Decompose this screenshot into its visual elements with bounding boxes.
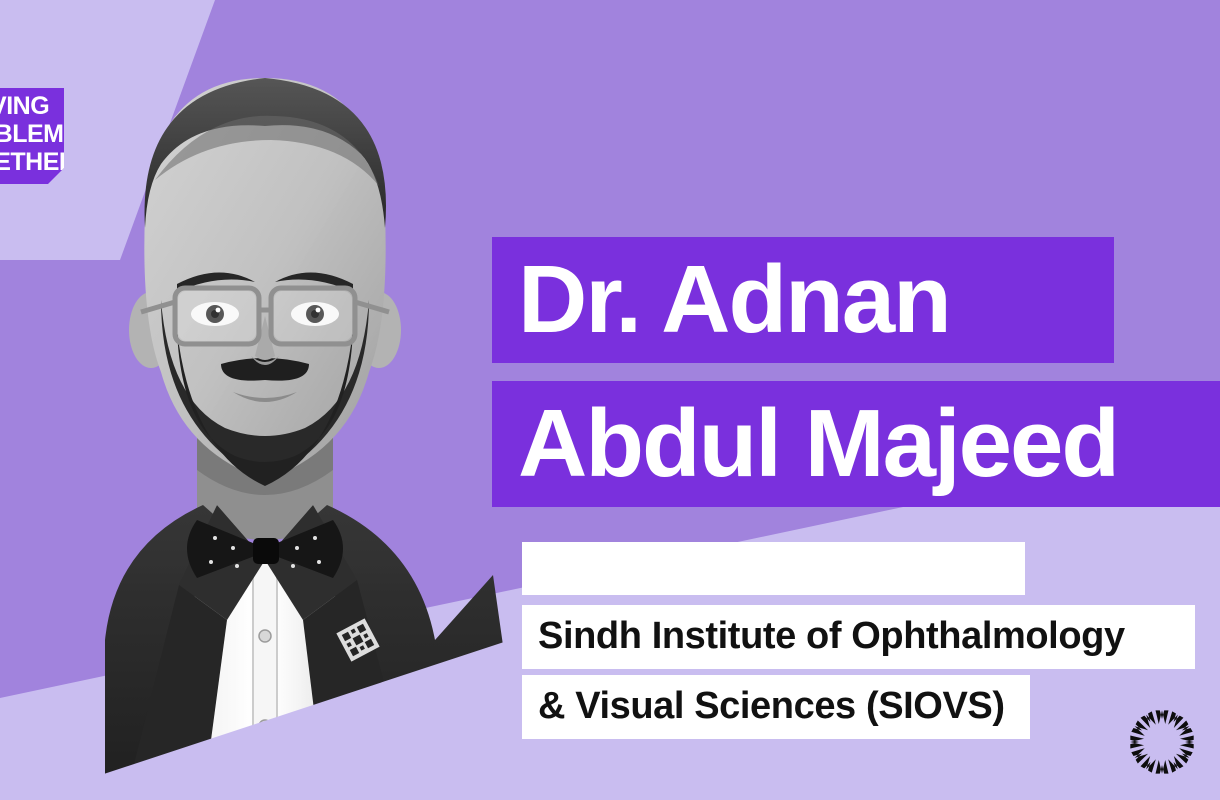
corner-badge-line-1: SOLVING	[0, 92, 64, 120]
speaker-card: SOLVING PROBLEMS TOGETHER Dr. Adnan Abdu…	[0, 0, 1220, 800]
speaker-name-line-1: Dr. Adnan	[492, 237, 1114, 363]
affiliation-line-2: & Visual Sciences (SIOVS)	[522, 675, 1030, 739]
sunburst-logo	[1126, 706, 1198, 778]
affiliation-spacer-bar	[522, 542, 1025, 595]
speaker-name-line-2: Abdul Majeed	[492, 381, 1220, 507]
corner-badge-line-3: TOGETHER	[0, 148, 64, 176]
corner-badge-line-2: PROBLEMS	[0, 120, 64, 148]
corner-badge-text: SOLVING PROBLEMS TOGETHER	[0, 92, 64, 176]
corner-badge: SOLVING PROBLEMS TOGETHER	[0, 88, 64, 184]
affiliation-line-1: Sindh Institute of Ophthalmology	[522, 605, 1195, 669]
speaker-affiliation: Sindh Institute of Ophthalmology & Visua…	[522, 542, 1195, 739]
speaker-name: Dr. Adnan Abdul Majeed	[492, 237, 1220, 507]
